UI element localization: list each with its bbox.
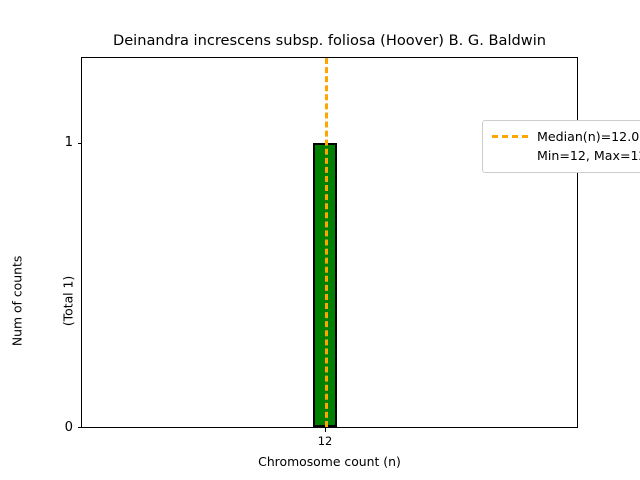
chart-title: Deinandra increscens subsp. foliosa (Hoo… <box>81 32 578 49</box>
legend-label-minmax: Min=12, Max=12 <box>537 148 640 163</box>
y-axis-label-line-2: (Total 1) <box>60 115 77 480</box>
legend-spacer <box>492 154 528 157</box>
legend-dashed-line-icon <box>492 135 528 138</box>
legend-label-median: Median(n)=12.0 <box>537 129 639 144</box>
median-line <box>325 58 328 427</box>
chart-legend: Median(n)=12.0 Min=12, Max=12 <box>482 120 640 173</box>
xtick-label-12: 12 <box>290 434 360 448</box>
chart-figure: Deinandra increscens subsp. foliosa (Hoo… <box>0 0 640 480</box>
plot-area: Median(n)=12.0 Min=12, Max=12 <box>81 57 578 428</box>
plot-inner <box>82 58 577 427</box>
x-axis-label: Chromosome count (n) <box>81 454 578 469</box>
legend-row-median: Median(n)=12.0 <box>492 127 640 146</box>
y-axis-label-line-1: Num of counts <box>10 115 27 480</box>
y-axis-label: Num of counts (Total 1) <box>0 115 110 480</box>
xtick-mark-12 <box>325 428 326 432</box>
legend-row-minmax: Min=12, Max=12 <box>492 146 640 165</box>
